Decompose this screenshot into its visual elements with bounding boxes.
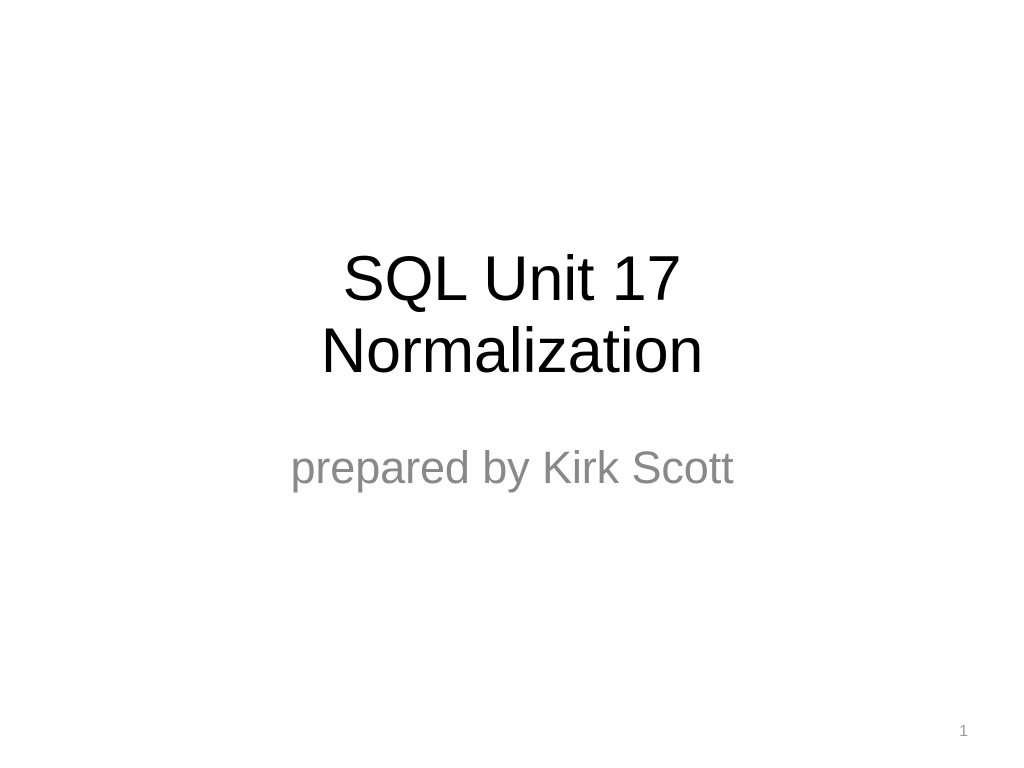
title-line-2: Normalization — [80, 315, 944, 387]
title-line-1: SQL Unit 17 — [80, 243, 944, 315]
presentation-slide: SQL Unit 17 Normalization prepared by Ki… — [0, 0, 1024, 768]
slide-title: SQL Unit 17 Normalization — [0, 243, 1024, 387]
subtitle-line-1: prepared by Kirk Scott — [80, 441, 944, 495]
slide-subtitle: prepared by Kirk Scott — [0, 441, 1024, 495]
slide-number: 1 — [959, 723, 968, 741]
